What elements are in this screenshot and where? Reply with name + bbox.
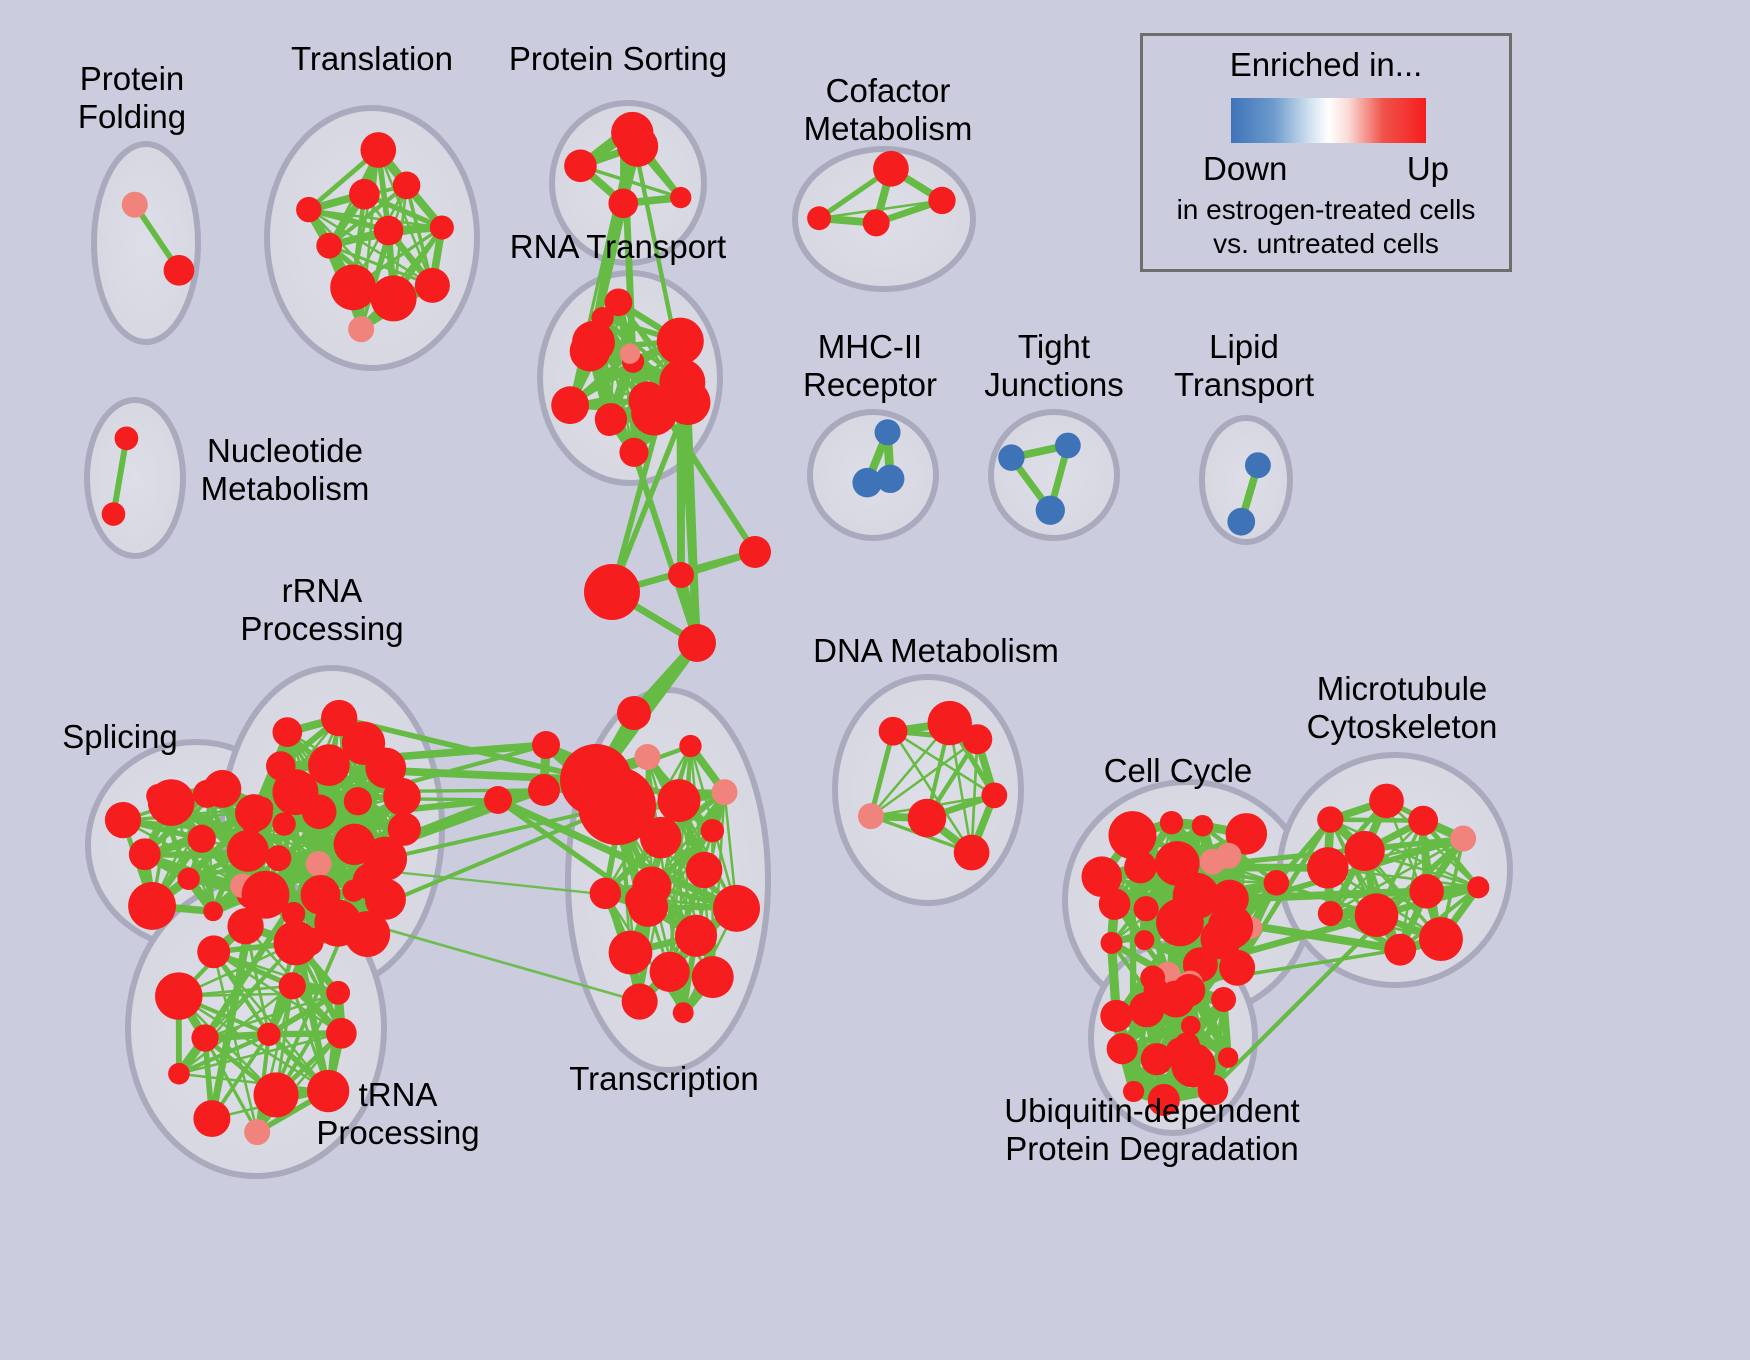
network-node: [1318, 901, 1343, 926]
network-node: [617, 696, 651, 730]
network-node: [619, 438, 648, 467]
network-node: [308, 744, 350, 786]
network-node: [155, 972, 202, 1019]
network-node: [1419, 917, 1463, 961]
network-node: [1216, 843, 1242, 869]
network-node: [105, 802, 141, 838]
network-node: [1055, 433, 1081, 459]
legend-caption-line1: in estrogen-treated cells: [1143, 194, 1509, 226]
network-node: [876, 465, 904, 493]
network-node: [679, 735, 701, 757]
network-node: [590, 878, 621, 909]
network-node: [1218, 1047, 1239, 1068]
network-node: [879, 717, 908, 746]
network-figure: ProteinFoldingTranslationProtein Sorting…: [0, 0, 1750, 1360]
network-node: [227, 908, 263, 944]
network-node: [1317, 806, 1343, 832]
network-node: [1036, 496, 1065, 525]
network-node: [307, 1070, 349, 1112]
network-node: [675, 915, 717, 957]
network-node: [657, 318, 704, 365]
network-node: [528, 774, 560, 806]
network-node: [634, 744, 660, 770]
network-node: [1219, 950, 1255, 986]
network-node: [1108, 811, 1156, 859]
network-node: [701, 819, 724, 842]
network-node: [928, 187, 955, 214]
network-node: [1173, 974, 1206, 1007]
network-node: [1099, 888, 1131, 920]
network-node: [1384, 934, 1416, 966]
network-node: [1369, 784, 1404, 819]
network-node: [306, 851, 332, 877]
network-node: [301, 875, 341, 915]
network-node: [203, 901, 223, 921]
network-node: [253, 1072, 298, 1117]
network-node: [875, 419, 901, 445]
network-node: [564, 150, 597, 183]
network-node: [1245, 452, 1271, 478]
network-node: [1181, 1016, 1201, 1036]
network-node: [344, 911, 390, 957]
network-node: [578, 767, 656, 845]
network-node: [596, 409, 623, 436]
network-node: [193, 780, 221, 808]
network-node: [302, 794, 337, 829]
network-node: [678, 624, 716, 662]
network-node: [266, 845, 292, 871]
network-node: [272, 812, 295, 835]
network-node: [863, 209, 890, 236]
network-node: [272, 717, 302, 747]
network-node: [330, 264, 376, 310]
network-node: [650, 952, 690, 992]
network-node: [374, 216, 404, 246]
network-node: [1160, 811, 1183, 834]
network-node: [670, 187, 691, 208]
network-node: [348, 316, 374, 342]
network-node: [168, 1063, 190, 1085]
network-node: [371, 275, 417, 321]
network-node: [620, 343, 641, 364]
network-node: [177, 868, 199, 890]
network-node: [668, 562, 694, 588]
network-node: [1264, 870, 1290, 896]
network-node: [713, 885, 760, 932]
network-node: [1148, 1084, 1180, 1116]
network-node: [858, 803, 884, 829]
network-node: [326, 1018, 357, 1049]
network-node: [115, 426, 139, 450]
network-node: [998, 444, 1024, 470]
legend-panel: Enriched in... Down Up in estrogen-treat…: [1140, 33, 1512, 272]
network-node: [128, 882, 176, 930]
legend-title: Enriched in...: [1143, 46, 1509, 84]
network-node: [296, 197, 321, 222]
network-node: [625, 885, 655, 915]
network-node: [1211, 987, 1236, 1012]
network-node: [1174, 1032, 1200, 1058]
network-node: [1467, 876, 1489, 898]
network-node: [430, 215, 454, 239]
network-node: [591, 307, 613, 329]
network-node: [686, 852, 722, 888]
network-node: [321, 700, 357, 736]
network-node: [349, 179, 380, 210]
network-node: [344, 787, 372, 815]
network-node: [164, 255, 195, 286]
network-node: [981, 782, 1007, 808]
cluster-hull: [94, 144, 198, 342]
network-node: [279, 972, 306, 999]
network-node: [1198, 1075, 1229, 1106]
network-node: [326, 981, 350, 1005]
network-node: [122, 192, 148, 218]
network-node: [807, 206, 831, 230]
network-node: [584, 564, 640, 620]
network-node: [1355, 893, 1399, 937]
network-node: [673, 1002, 694, 1023]
network-node: [1307, 847, 1348, 888]
network-node: [692, 956, 734, 998]
network-node: [612, 121, 634, 143]
network-node: [393, 172, 421, 200]
network-node: [608, 189, 638, 219]
legend-low-label: Down: [1203, 150, 1287, 188]
network-node: [1227, 508, 1255, 536]
network-node: [1345, 831, 1385, 871]
network-node: [873, 151, 909, 187]
network-node: [257, 1023, 280, 1046]
network-node: [587, 336, 611, 360]
network-node: [1107, 1033, 1138, 1064]
network-node: [1134, 930, 1154, 950]
network-node: [739, 536, 771, 568]
network-node: [659, 359, 705, 405]
network-node: [383, 778, 421, 816]
network-node: [197, 935, 230, 968]
network-node: [908, 799, 947, 838]
network-node: [1100, 1000, 1132, 1032]
network-node: [657, 779, 700, 822]
legend-colorbar: [1231, 98, 1426, 143]
network-node: [191, 1024, 218, 1051]
network-node: [415, 268, 450, 303]
network-node: [129, 838, 161, 870]
network-node: [244, 1119, 270, 1145]
network-node: [316, 233, 342, 259]
network-node: [1409, 874, 1444, 909]
cluster-hull: [87, 400, 183, 556]
network-node: [1450, 826, 1476, 852]
network-node: [148, 779, 195, 826]
network-node: [532, 731, 560, 759]
network-node: [954, 835, 990, 871]
network-node: [242, 816, 261, 835]
network-node: [551, 386, 589, 424]
network-node: [1123, 1081, 1144, 1102]
network-node: [712, 779, 738, 805]
network-node: [360, 132, 396, 168]
legend-caption-line2: vs. untreated cells: [1143, 228, 1509, 260]
network-node: [193, 1100, 230, 1137]
network-node: [1173, 873, 1220, 920]
legend-high-label: Up: [1407, 150, 1449, 188]
network-node: [622, 984, 658, 1020]
network-node: [188, 825, 216, 853]
network-node: [484, 786, 512, 814]
network-node: [352, 863, 389, 900]
network-node: [1192, 815, 1214, 837]
network-node: [266, 751, 295, 780]
network-node: [1101, 932, 1123, 954]
network-node: [928, 701, 972, 745]
network-node: [1133, 896, 1158, 921]
network-node: [609, 931, 653, 975]
network-node: [1208, 904, 1253, 949]
network-node: [102, 502, 126, 526]
network-node: [274, 921, 319, 966]
network-node: [227, 830, 269, 872]
network-node: [1408, 806, 1438, 836]
